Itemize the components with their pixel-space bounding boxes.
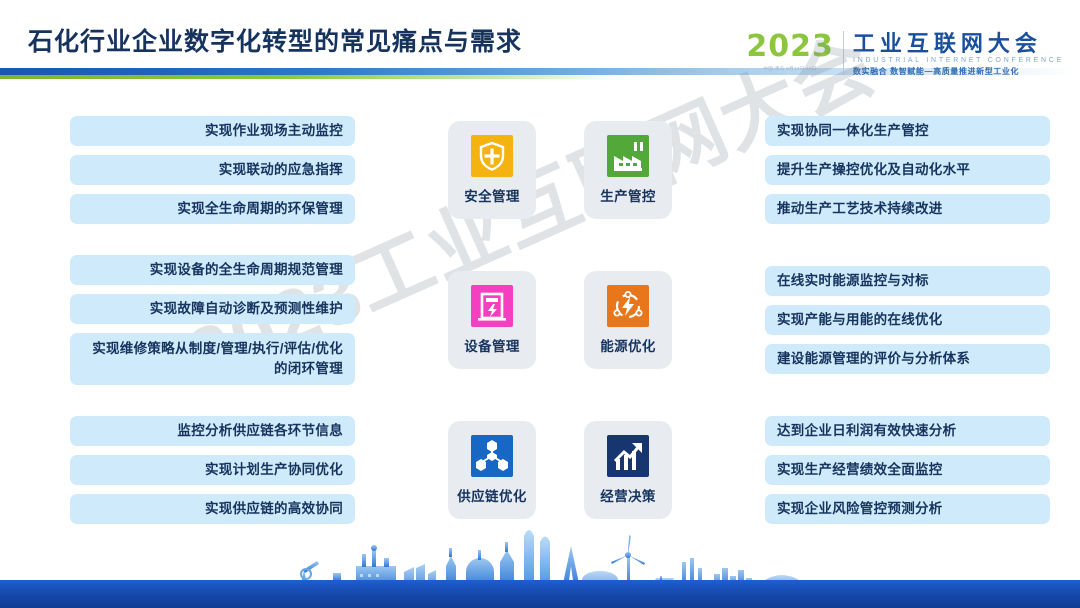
logo-divider (843, 31, 844, 75)
logo-text-block: 工业互联网大会 INDUSTRIAL INTERNET CONFERENCE 数… (853, 31, 1066, 77)
energy-bolt-icon (607, 285, 649, 327)
content-grid: 实现作业现场主动监控实现联动的应急指挥实现全生命周期的环保管理 安全管理 生产管… (0, 100, 1080, 550)
equipment-cabinet-icon (471, 285, 513, 327)
requirement-pill[interactable]: 实现供应链的高效协同 (70, 494, 355, 524)
requirement-pill[interactable]: 实现协同一体化生产管控 (765, 116, 1050, 146)
right-pill-column: 在线实时能源监控与对标实现产能与用能的在线优化建设能源管理的评价与分析体系 (765, 266, 1050, 374)
logo-tagline: 数实融合 数智赋能—高质量推进新型工业化 (853, 66, 1066, 77)
left-pill-column: 实现作业现场主动监控实现联动的应急指挥实现全生命周期的环保管理 (70, 116, 355, 224)
right-pill-column: 实现协同一体化生产管控提升生产操控优化及自动化水平推动生产工艺技术持续改进 (765, 116, 1050, 224)
category-tile-label: 供应链优化 (457, 485, 527, 505)
category-tile-label: 能源优化 (600, 335, 656, 355)
growth-chart-icon (607, 435, 649, 477)
slide-header: 石化行业企业数字化转型的常见痛点与需求 2023 中国·青岛 8月14日-16日… (0, 0, 1080, 90)
requirement-pill[interactable]: 实现产能与用能的在线优化 (765, 305, 1050, 335)
requirement-pill[interactable]: 实现企业风险管控预测分析 (765, 494, 1050, 524)
requirement-pill[interactable]: 达到企业日利润有效快速分析 (765, 416, 1050, 446)
category-tile-label: 设备管理 (464, 335, 520, 355)
bottom-blue-band (0, 580, 1080, 608)
requirement-pill[interactable]: 实现作业现场主动监控 (70, 116, 355, 146)
category-tile-group: 设备管理 能源优化 (355, 271, 765, 369)
conference-logo: 2023 中国·青岛 8月14日-16日 工业互联网大会 INDUSTRIAL … (746, 31, 1066, 83)
requirement-pill[interactable]: 实现计划生产协同优化 (70, 455, 355, 485)
supply-chain-network-icon (471, 435, 513, 477)
slide-root: 石化行业企业数字化转型的常见痛点与需求 2023 中国·青岛 8月14日-16日… (0, 0, 1080, 608)
shield-cross-icon (471, 135, 513, 177)
category-tile-label: 安全管理 (464, 185, 520, 205)
requirement-pill[interactable]: 建设能源管理的评价与分析体系 (765, 344, 1050, 374)
requirement-pill[interactable]: 实现全生命周期的环保管理 (70, 194, 355, 224)
category-tile[interactable]: 设备管理 (448, 271, 536, 369)
category-tile-group: 供应链优化 经营决策 (355, 421, 765, 519)
category-tile[interactable]: 经营决策 (584, 421, 672, 519)
left-pill-column: 实现设备的全生命周期规范管理实现故障自动诊断及预测性维护实现维修策略从制度/管理… (70, 255, 355, 385)
header-rule-green (0, 75, 620, 79)
content-row: 实现设备的全生命周期规范管理实现故障自动诊断及预测性维护实现维修策略从制度/管理… (0, 250, 1080, 390)
requirement-pill[interactable]: 推动生产工艺技术持续改进 (765, 194, 1050, 224)
logo-year: 2023 (746, 31, 834, 62)
category-tile-label: 经营决策 (600, 485, 656, 505)
requirement-pill[interactable]: 实现故障自动诊断及预测性维护 (70, 294, 355, 324)
requirement-pill[interactable]: 监控分析供应链各环节信息 (70, 416, 355, 446)
category-tile[interactable]: 生产管控 (584, 121, 672, 219)
right-pill-column: 达到企业日利润有效快速分析实现生产经营绩效全面监控实现企业风险管控预测分析 (765, 416, 1050, 524)
category-tile[interactable]: 供应链优化 (448, 421, 536, 519)
content-row: 监控分析供应链各环节信息实现计划生产协同优化实现供应链的高效协同 供应链优化 经… (0, 400, 1080, 540)
page-title: 石化行业企业数字化转型的常见痛点与需求 (28, 22, 522, 58)
requirement-pill[interactable]: 实现联动的应急指挥 (70, 155, 355, 185)
logo-english-title: INDUSTRIAL INTERNET CONFERENCE (853, 56, 1064, 66)
requirement-pill[interactable]: 实现维修策略从制度/管理/执行/评估/优化的闭环管理 (70, 333, 355, 385)
requirement-pill[interactable]: 在线实时能源监控与对标 (765, 266, 1050, 296)
logo-year-block: 2023 中国·青岛 8月14日-16日 (746, 31, 843, 72)
category-tile-group: 安全管理 生产管控 (355, 121, 765, 219)
content-row: 实现作业现场主动监控实现联动的应急指挥实现全生命周期的环保管理 安全管理 生产管… (0, 100, 1080, 240)
category-tile[interactable]: 能源优化 (584, 271, 672, 369)
logo-main-title: 工业互联网大会 (853, 31, 1066, 56)
requirement-pill[interactable]: 提升生产操控优化及自动化水平 (765, 155, 1050, 185)
requirement-pill[interactable]: 实现生产经营绩效全面监控 (765, 455, 1050, 485)
requirement-pill[interactable]: 实现设备的全生命周期规范管理 (70, 255, 355, 285)
left-pill-column: 监控分析供应链各环节信息实现计划生产协同优化实现供应链的高效协同 (70, 416, 355, 524)
logo-year-subtitle: 中国·青岛 8月14日-16日 (763, 65, 816, 71)
category-tile-label: 生产管控 (600, 185, 656, 205)
factory-icon (607, 135, 649, 177)
category-tile[interactable]: 安全管理 (448, 121, 536, 219)
